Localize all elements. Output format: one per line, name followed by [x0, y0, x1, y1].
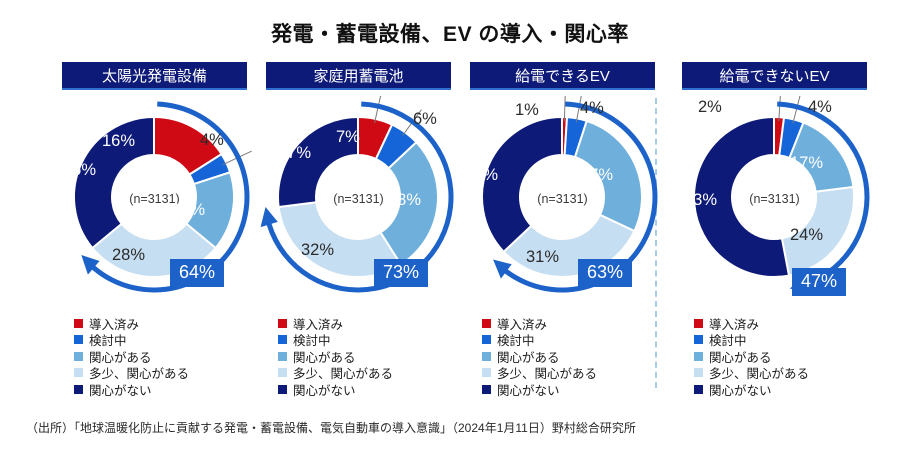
legend-item: 関心がない: [74, 381, 257, 398]
legend-swatch-icon: [74, 385, 83, 394]
panel-header-ev-supply: 給電できるEV: [470, 62, 655, 90]
legend-item: 関心がある: [482, 348, 665, 365]
chart-panel-ev-supply: 給電できるEV (n=3131) 1% 4% 27% 31% 37% 63% 導…: [460, 62, 665, 398]
legend-ev-nosupply: 導入済み 検討中 関心がある 多少、関心がある 関心がない: [672, 315, 877, 398]
highlight-badge-ev-nosupply: 47%: [792, 268, 846, 296]
infographic-page: 発電・蓄電設備、EV の導入・関心率 太陽光発電設備 (n=3131) 16% …: [0, 0, 900, 450]
legend-swatch-icon: [694, 319, 703, 328]
donut-svg-battery: [256, 96, 461, 311]
legend-swatch-icon: [694, 368, 703, 377]
legend-swatch-icon: [482, 352, 491, 361]
legend-swatch-icon: [278, 368, 287, 377]
legend-swatch-icon: [694, 385, 703, 394]
chart-panel-ev-nosupply: 給電できないEV (n=3131) 2% 4% 17% 24% 53% 47% …: [672, 62, 877, 398]
chart-panel-solar: 太陽光発電設備 (n=3131) 16% 4% 16% 28% 36% 64% …: [52, 62, 257, 398]
legend-item: 検討中: [482, 332, 665, 349]
panel-header-battery: 家庭用蓄電池: [266, 62, 451, 90]
legend-item: 導入済み: [74, 315, 257, 332]
donut-svg-solar: [52, 96, 257, 311]
source-note: （出所）「地球温暖化防止に貢献する発電・蓄電設備、電気自動車の導入意識」（202…: [26, 419, 636, 436]
legend-swatch-icon: [278, 335, 287, 344]
legend-item: 多少、関心がある: [74, 365, 257, 382]
donut-svg-ev-nosupply: [672, 96, 877, 311]
highlight-badge-ev-supply: 63%: [578, 259, 632, 287]
legend-swatch-icon: [74, 335, 83, 344]
chart-panel-battery: 家庭用蓄電池 (n=3131) 7% 6% 28% 32% 27% 73% 導入…: [256, 62, 461, 398]
legend-label: 関心がない: [709, 380, 772, 399]
donut-chart-solar: (n=3131) 16% 4% 16% 28% 36% 64%: [52, 96, 257, 311]
legend-item: 多少、関心がある: [278, 365, 461, 382]
donut-slice: [278, 117, 358, 207]
legend-item: 検討中: [694, 332, 877, 349]
legend-item: 関心がない: [278, 381, 461, 398]
panel-header-ev-nosupply: 給電できないEV: [682, 62, 867, 90]
donut-slice: [694, 117, 789, 277]
legend-swatch-icon: [482, 335, 491, 344]
legend-item: 関心がない: [694, 381, 877, 398]
legend-item: 導入済み: [482, 315, 665, 332]
donut-chart-battery: (n=3131) 7% 6% 28% 32% 27% 73%: [256, 96, 461, 311]
legend-swatch-icon: [74, 319, 83, 328]
legend-item: 多少、関心がある: [694, 365, 877, 382]
legend-item: 検討中: [278, 332, 461, 349]
legend-label: 関心がない: [89, 380, 152, 399]
donut-slice: [74, 117, 154, 248]
legend-label: 関心がない: [293, 380, 356, 399]
donut-slice: [482, 117, 562, 252]
legend-swatch-icon: [482, 385, 491, 394]
legend-item: 関心がある: [278, 348, 461, 365]
legend-item: 関心がない: [482, 381, 665, 398]
legend-swatch-icon: [278, 385, 287, 394]
legend-label: 関心がない: [497, 380, 560, 399]
legend-item: 多少、関心がある: [482, 365, 665, 382]
legend-swatch-icon: [74, 352, 83, 361]
highlight-badge-battery: 73%: [374, 259, 428, 287]
legend-swatch-icon: [482, 368, 491, 377]
legend-swatch-icon: [278, 319, 287, 328]
legend-item: 関心がある: [694, 348, 877, 365]
legend-swatch-icon: [694, 335, 703, 344]
legend-solar: 導入済み 検討中 関心がある 多少、関心がある 関心がない: [52, 315, 257, 398]
legend-swatch-icon: [694, 352, 703, 361]
legend-ev-supply: 導入済み 検討中 関心がある 多少、関心がある 関心がない: [460, 315, 665, 398]
legend-item: 導入済み: [694, 315, 877, 332]
donut-chart-ev-nosupply: (n=3131) 2% 4% 17% 24% 53% 47%: [672, 96, 877, 311]
legend-item: 導入済み: [278, 315, 461, 332]
donut-chart-ev-supply: (n=3131) 1% 4% 27% 31% 37% 63%: [460, 96, 665, 311]
legend-item: 関心がある: [74, 348, 257, 365]
panel-header-solar: 太陽光発電設備: [62, 62, 247, 90]
legend-item: 検討中: [74, 332, 257, 349]
legend-swatch-icon: [74, 368, 83, 377]
highlight-badge-solar: 64%: [170, 259, 224, 287]
legend-swatch-icon: [278, 352, 287, 361]
donut-svg-ev-supply: [460, 96, 665, 311]
legend-swatch-icon: [482, 319, 491, 328]
legend-battery: 導入済み 検討中 関心がある 多少、関心がある 関心がない: [256, 315, 461, 398]
page-title: 発電・蓄電設備、EV の導入・関心率: [0, 18, 900, 48]
